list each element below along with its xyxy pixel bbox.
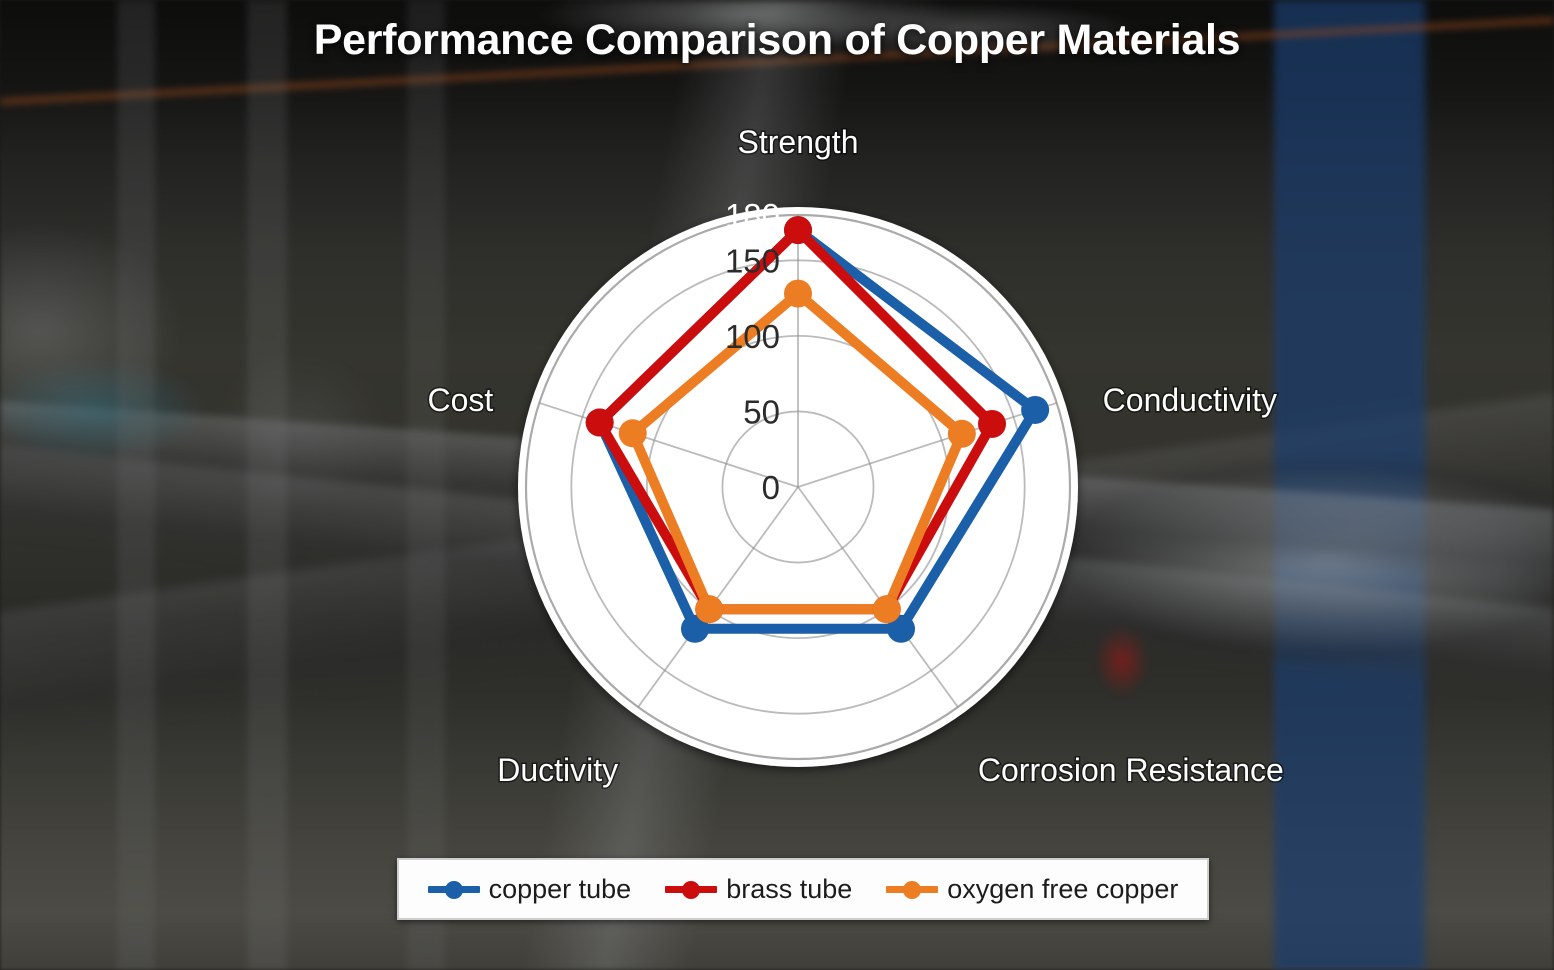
legend: copper tubebrass tubeoxygen free copper [397, 858, 1209, 920]
axis-label-ductivity: Ductivity [497, 752, 618, 788]
legend-dot [903, 881, 921, 899]
axis-label-conductivity: Conductivity [1103, 382, 1277, 418]
radial-tick-0: 0 [762, 469, 780, 506]
axis-label-cost: Cost [428, 382, 494, 418]
radial-tick-50: 50 [743, 393, 780, 430]
legend-item-brass-tube[interactable]: brass tube [665, 874, 852, 905]
legend-marker-icon [886, 880, 938, 898]
axis-label-strength: Strength [738, 124, 859, 160]
axis-label-corrosion-resistance: Corrosion Resistance [978, 752, 1284, 788]
legend-label: oxygen free copper [947, 874, 1178, 905]
legend-dot [682, 881, 700, 899]
radial-tick-180: 180 [725, 197, 780, 234]
legend-marker-icon [428, 880, 480, 898]
radar-chart-svg: 050100150180 StrengthConductivityCorrosi… [0, 0, 1554, 970]
legend-label: brass tube [726, 874, 852, 905]
legend-item-oxygen-free-copper[interactable]: oxygen free copper [886, 874, 1178, 905]
legend-item-copper-tube[interactable]: copper tube [428, 874, 632, 905]
radial-tick-100: 100 [725, 318, 780, 355]
legend-label: copper tube [489, 874, 632, 905]
radial-tick-150: 150 [725, 242, 780, 279]
legend-dot [445, 881, 463, 899]
legend-marker-icon [665, 880, 717, 898]
radar-chart: 050100150180 StrengthConductivityCorrosi… [0, 0, 1554, 970]
